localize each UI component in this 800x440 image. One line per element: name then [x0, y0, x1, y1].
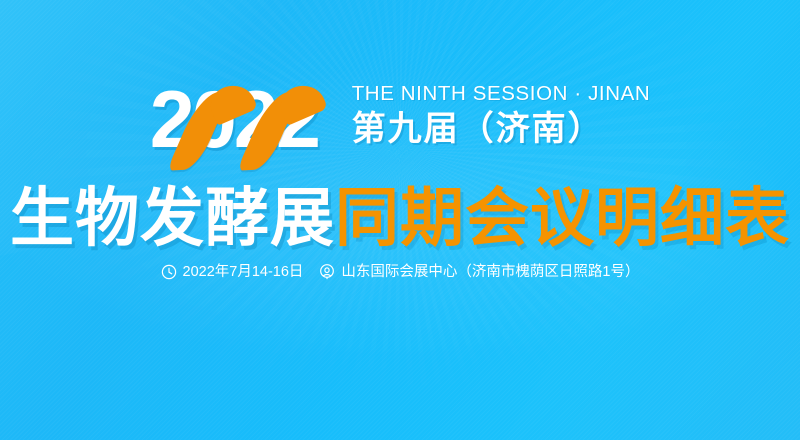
session-english-label: THE NINTH SESSION · JINAN	[352, 82, 651, 106]
year-text: 2022	[150, 78, 318, 162]
banner-content: 2022 THE NINTH SESSION · JINAN 第九届（济南） 生…	[0, 0, 800, 440]
page-title-primary: 生物发酵展	[10, 182, 335, 254]
clock-icon	[161, 264, 177, 280]
event-venue: 山东国际会展中心（济南市槐荫区日照路1号）	[319, 262, 639, 282]
location-pin-icon	[319, 264, 335, 280]
event-venue-text: 山东国际会展中心（济南市槐荫区日照路1号）	[341, 262, 639, 282]
event-banner: 2022 THE NINTH SESSION · JINAN 第九届（济南） 生…	[0, 0, 800, 440]
page-title-accent: 同期会议明细表	[335, 182, 790, 254]
session-chinese-label: 第九届（济南）	[352, 109, 651, 149]
event-date: 2022年7月14-16日	[161, 262, 304, 282]
year-logo: 2022	[150, 78, 340, 162]
session-block: THE NINTH SESSION · JINAN 第九届（济南）	[352, 78, 651, 149]
event-date-text: 2022年7月14-16日	[183, 262, 304, 282]
page-title: 生物发酵展同期会议明细表	[0, 182, 800, 254]
year-session-row: 2022 THE NINTH SESSION · JINAN 第九届（济南）	[0, 78, 800, 162]
event-meta: 2022年7月14-16日 山东国际会展中心（济南市槐荫区日照路1号）	[0, 262, 800, 282]
